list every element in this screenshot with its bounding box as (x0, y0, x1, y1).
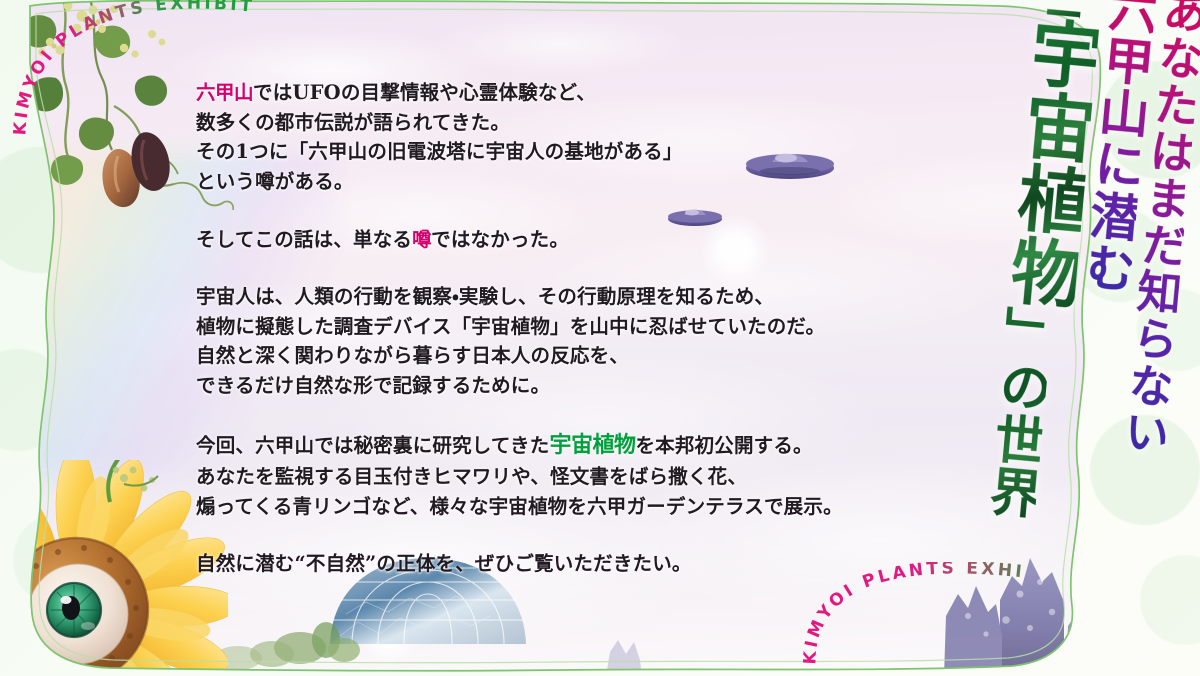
p2-l1-c: ではなかった。 (431, 228, 569, 251)
p4-l1-a: 今回、六甲山では秘密裏に研究してきた (196, 434, 549, 457)
paragraph-spacer-3 (196, 420, 856, 429)
p3-l3: 自然と深く関わりながら暮らす日本人の反応を、 (196, 344, 629, 367)
p3-l1: 宇宙人は、人類の行動を観察・実験し、その行動原理を知るため、 (196, 285, 774, 308)
p1-l3: その1つに「六甲山の旧電波塔に宇宙人の基地がある」 (196, 140, 683, 163)
p5-l1: 自然に潜む“不自然”の正体を、ぜひご覧いただきたい。 (196, 552, 692, 575)
p3-l4: できるだけ自然な形で記録するために。 (196, 374, 550, 397)
paragraph-spacer-1 (196, 216, 856, 225)
p4-l2: あなたを監視する目玉付きヒマワリや、怪文書をばら撒く花、 (196, 465, 747, 488)
p4-l3: 煽ってくる青リンゴなど、様々な宇宙植物を六甲ガーデンテラスで展示。 (196, 495, 843, 518)
paragraph-2: そしてこの話は、単なる噂ではなかった。 (196, 225, 856, 255)
p4-l1-c: を本邦初公開する。 (635, 434, 812, 457)
paragraph-spacer-4 (196, 540, 856, 549)
p2-l1-a: そしてこの話は、単なる (196, 228, 412, 251)
paragraph-5: 自然に潜む“不自然”の正体を、ぜひご覧いただきたい。 (196, 549, 856, 579)
p1-l2: 数多くの都市伝説が語られてきた。 (196, 111, 510, 134)
p3-l2: 植物に擬態した調査デバイス「宇宙植物」を山中に忍ばせていたのだ。 (196, 315, 825, 338)
paragraph-1: 六甲山ではUFOの目撃情報や心霊体験など、 数多くの都市伝説が語られてきた。 そ… (196, 78, 856, 197)
highlight-rokkosan: 六甲山 (196, 81, 253, 104)
body-copy: 六甲山ではUFOの目撃情報や心霊体験など、 数多くの都市伝説が語られてきた。 そ… (196, 78, 856, 579)
paragraph-3: 宇宙人は、人類の行動を観察・実験し、その行動原理を知るため、 植物に擬態した調査… (196, 282, 856, 401)
highlight-uwasa: 噂 (412, 228, 431, 251)
poster-canvas: KIMYOI PLANTS EXHIBITION KIMYOI PLANTS E… (0, 0, 1200, 676)
highlight-uchu-shokubutsu: 宇宙植物 (549, 432, 635, 458)
paragraph-spacer-2 (196, 273, 856, 282)
p1-l1-rest: ではUFOの目撃情報や心霊体験など、 (253, 81, 596, 104)
paragraph-4: 今回、六甲山では秘密裏に研究してきた宇宙植物を本邦初公開する。 あなたを監視する… (196, 429, 856, 522)
p1-l4: という噂がある。 (196, 170, 354, 193)
